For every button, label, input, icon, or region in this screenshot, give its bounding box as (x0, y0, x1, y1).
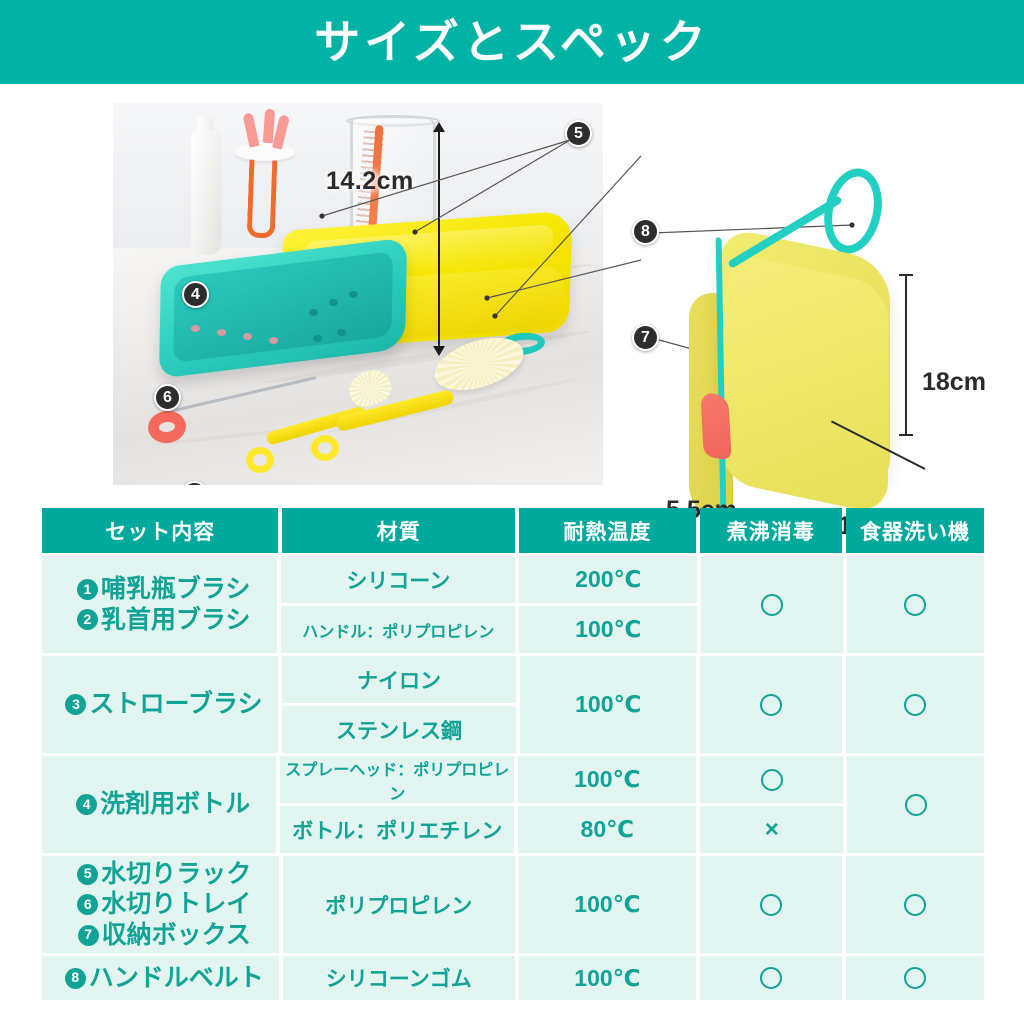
case-height-label: 18cm (922, 368, 986, 397)
table-row: 4 洗剤用ボトル スプレーヘッド：ポリプロピレン ボトル：ポリエチレン 100℃… (42, 756, 984, 853)
item-name: 6 水切りトレイ (77, 889, 251, 920)
rack-hole (337, 329, 346, 336)
item-number-badge: 7 (78, 925, 99, 946)
item-label: 水切りトレイ (101, 889, 251, 920)
hero-section: 14.2cm 4 6 3 2 1 5 (0, 84, 1024, 494)
ok-circle-icon (761, 769, 783, 791)
material-cell: ハンドル：ポリプロピレン (281, 606, 515, 653)
rack-hole (349, 291, 358, 298)
item-name: 8 ハンドルベルト (65, 963, 264, 994)
temperature-cell: 100℃ (518, 756, 696, 803)
ok-circle-icon (904, 967, 926, 989)
material-cell: スプレーヘッド：ポリプロピレン (280, 756, 514, 803)
item-number-badge: 4 (76, 794, 97, 815)
item-label: 哺乳瓶ブラシ (101, 574, 251, 605)
dishwasher-cell (846, 656, 984, 753)
item-name: 1 哺乳瓶ブラシ (77, 574, 251, 605)
page-title: サイズとスペック (314, 19, 709, 65)
header-material: 材質 (282, 508, 515, 553)
header-heat-resistance: 耐熱温度 (519, 508, 696, 553)
marker-5-drying-rack: 5 (565, 120, 592, 147)
header-boil-sterilize: 煮沸消毒 (700, 508, 842, 553)
item-number-badge: 8 (65, 968, 86, 989)
item-label: 洗剤用ボトル (100, 789, 250, 820)
boil-cell: × (700, 806, 843, 853)
spec-table: セット内容 材質 耐熱温度 煮沸消毒 食器洗い機 1 哺乳瓶ブラシ 2 乳首用ブ… (42, 508, 984, 1003)
detergent-bottle (191, 130, 221, 255)
boil-cell (700, 956, 842, 1000)
marker-4-detergent-bottle: 4 (182, 281, 209, 308)
ok-circle-icon (904, 694, 926, 716)
temperature-cell: 100℃ (519, 956, 696, 1000)
row-name-cell: 1 哺乳瓶ブラシ 2 乳首用ブラシ (42, 556, 277, 653)
material-cell: ナイロン (282, 656, 516, 703)
rack-hole (309, 309, 318, 316)
header-dishwasher: 食器洗い機 (846, 508, 984, 553)
marker-6-drying-tray: 6 (154, 384, 181, 411)
ok-circle-icon (904, 894, 926, 916)
marker-7-storage-box: 7 (632, 324, 659, 351)
nipple-brush-loop (246, 447, 274, 473)
rack-hole (329, 299, 338, 306)
material-cell: シリコーンゴム (283, 956, 515, 1000)
item-label: 乳首用ブラシ (101, 605, 251, 636)
orange-tongs (247, 160, 278, 239)
dishwasher-cell (847, 556, 984, 653)
row-name-cell: 8 ハンドルベルト (42, 956, 279, 1000)
dishwasher-cell (846, 956, 984, 1000)
height-dimension-cap (899, 434, 913, 436)
item-number-badge: 6 (77, 894, 98, 915)
temperature-cell: 100℃ (519, 856, 696, 953)
table-row: 3 ストローブラシ ナイロン ステンレス鋼 100℃ (42, 656, 984, 753)
ok-circle-icon (905, 794, 927, 816)
table-row: 1 哺乳瓶ブラシ 2 乳首用ブラシ シリコーン ハンドル：ポリプロピレン 200… (42, 556, 984, 653)
case-front-panel (720, 250, 888, 516)
boil-cell (700, 856, 842, 953)
item-label: ストローブラシ (89, 689, 262, 720)
item-name: 2 乳首用ブラシ (77, 605, 251, 636)
rack-hole (191, 325, 200, 332)
table-header-row: セット内容 材質 耐熱温度 煮沸消毒 食器洗い機 (42, 508, 984, 553)
item-name: 3 ストローブラシ (65, 689, 262, 720)
product-photo: 14.2cm 4 6 3 2 1 (113, 103, 603, 485)
rack-hole (243, 333, 252, 340)
row-name-cell: 3 ストローブラシ (42, 656, 278, 753)
photo-dimension-label: 14.2cm (326, 167, 454, 197)
page-header: サイズとスペック (0, 0, 1024, 84)
ok-circle-icon (904, 594, 926, 616)
item-number-badge: 5 (77, 864, 98, 885)
item-name: 5 水切りラック (77, 859, 251, 890)
bottle-brush-loop (311, 435, 339, 461)
item-number-badge: 2 (77, 609, 98, 630)
dishwasher-cell (846, 856, 984, 953)
height-dimension-line (905, 276, 907, 436)
height-measure-arrow (438, 131, 440, 347)
item-number-badge: 1 (77, 579, 98, 600)
temperature-cell: 100℃ (520, 656, 696, 753)
material-cell: ステンレス鋼 (282, 706, 516, 753)
material-cell: シリコーン (281, 556, 515, 603)
ok-circle-icon (760, 894, 782, 916)
header-contents: セット内容 (42, 508, 278, 553)
material-cell: ポリプロピレン (283, 856, 515, 953)
row-name-cell: 5 水切りラック 6 水切りトレイ 7 収納ボックス (42, 856, 279, 953)
temperature-cell: 100℃ (519, 606, 697, 653)
boil-cell (701, 556, 842, 653)
item-label: 水切りラック (101, 859, 251, 890)
marker-8-handle-belt: 8 (632, 218, 659, 245)
rack-hole (217, 329, 226, 336)
height-dimension-cap (899, 274, 913, 276)
rack-hole (313, 335, 322, 342)
boil-cell (700, 656, 842, 753)
item-number-badge: 3 (65, 694, 86, 715)
material-cell: ボトル：ポリエチレン (280, 806, 514, 853)
item-name: 7 収納ボックス (78, 920, 251, 951)
ok-circle-icon (760, 694, 782, 716)
table-row: 8 ハンドルベルト シリコーンゴム 100℃ (42, 956, 984, 1000)
temperature-cell: 80℃ (518, 806, 696, 853)
ok-circle-icon (761, 594, 783, 616)
ok-circle-icon (760, 967, 782, 989)
temperature-cell: 200℃ (519, 556, 697, 603)
row-name-cell: 4 洗剤用ボトル (42, 756, 276, 853)
table-row: 5 水切りラック 6 水切りトレイ 7 収納ボックス ポリプロピレン 100℃ (42, 856, 984, 953)
rack-hole (269, 337, 278, 344)
nipple-holder-cup (235, 143, 295, 161)
item-name: 4 洗剤用ボトル (76, 789, 250, 820)
boil-cell (700, 756, 843, 803)
item-label: 収納ボックス (102, 920, 251, 951)
item-label: ハンドルベルト (89, 963, 264, 994)
dishwasher-cell (847, 756, 984, 853)
